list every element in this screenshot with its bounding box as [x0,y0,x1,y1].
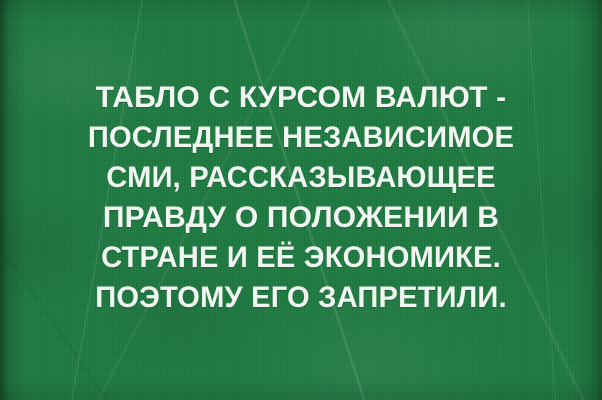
caption-line-4: ПРАВДУ О ПОЛОЖЕНИИ В [31,198,571,238]
caption-line-6: ПОЭТОМУ ЕГО ЗАПРЕТИЛИ. [39,278,563,318]
caption-line-3: СМИ, РАССКАЗЫВАЮЩЕЕ [39,158,563,198]
caption-line-1: ТАБЛО С КУРСОМ ВАЛЮТ - [31,78,571,118]
caption-line-5: СТРАНЕ И ЕЁ ЭКОНОМИКЕ. [39,238,563,278]
caption-line-2: ПОСЛЕДНЕЕ НЕЗАВИСИМОЕ [39,118,563,158]
meme-card: ТАБЛО С КУРСОМ ВАЛЮТ - ПОСЛЕДНЕЕ НЕЗАВИС… [0,0,602,400]
caption-text-block: ТАБЛО С КУРСОМ ВАЛЮТ - ПОСЛЕДНЕЕ НЕЗАВИС… [31,78,571,318]
